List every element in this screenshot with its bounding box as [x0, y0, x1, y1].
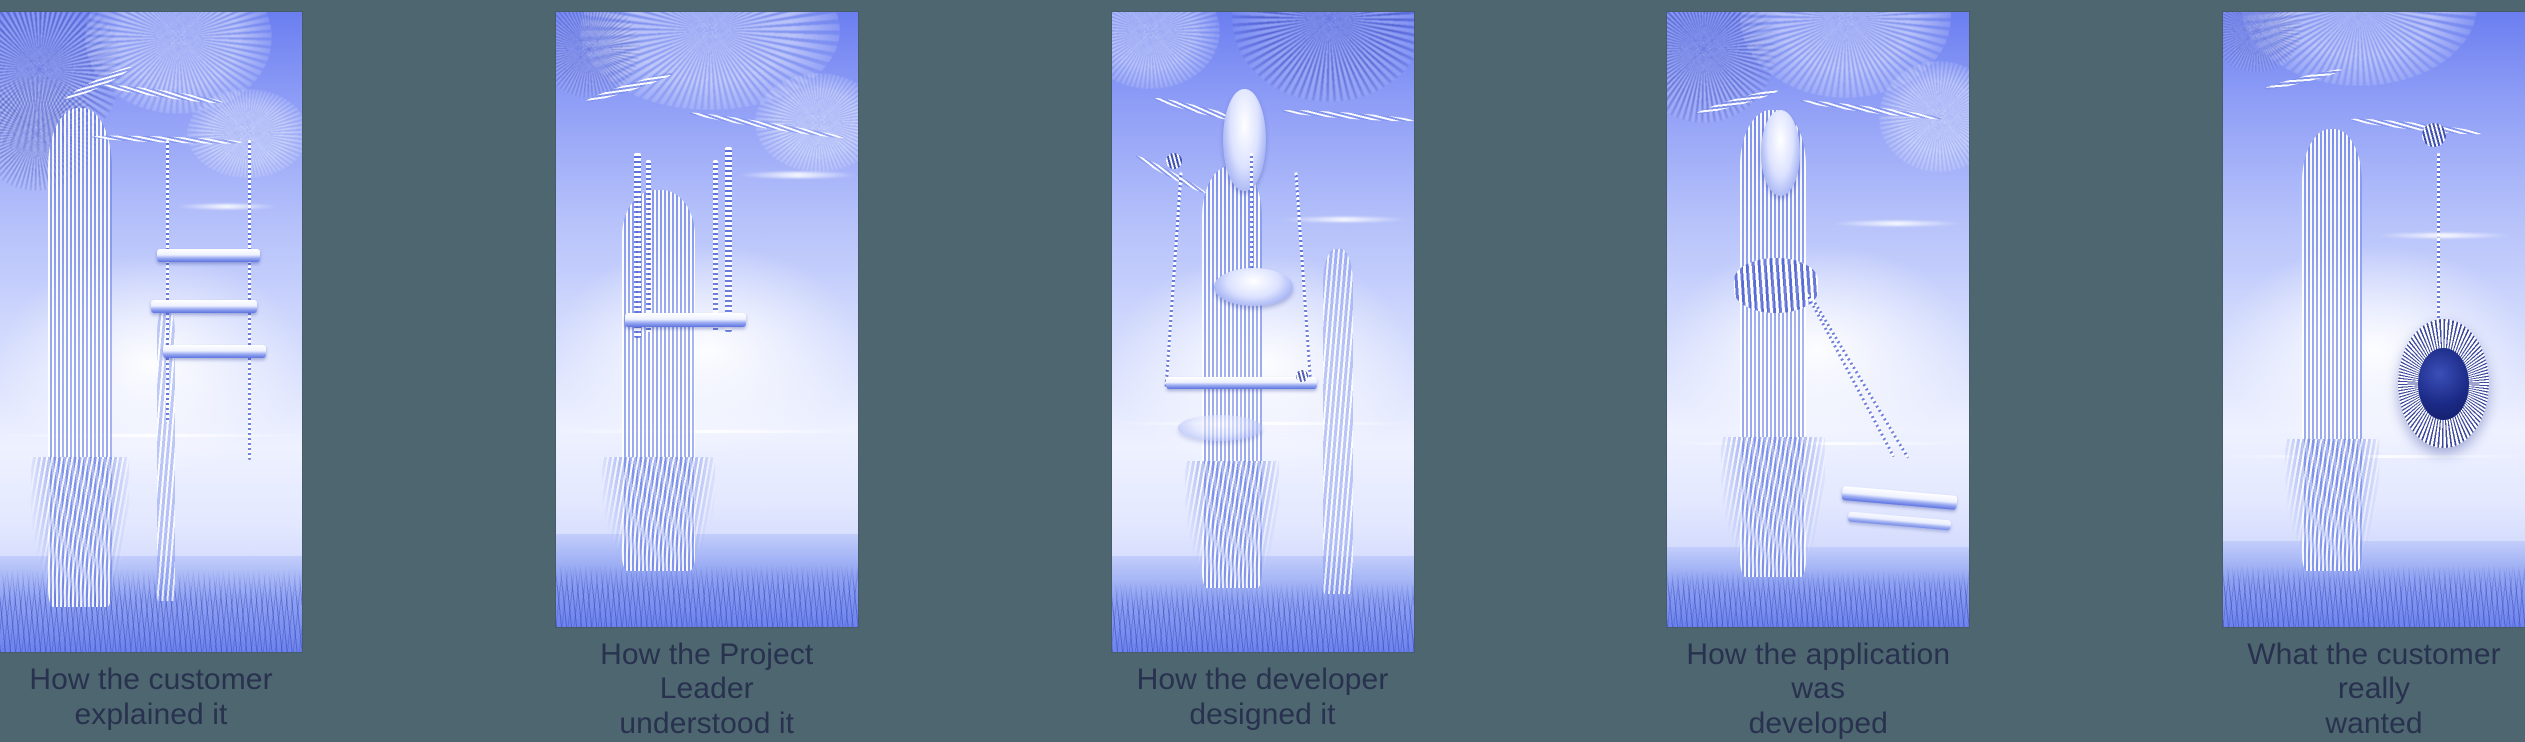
plank-middle — [151, 300, 257, 313]
plank-lower — [1166, 377, 1317, 389]
panel-5-illustration — [2223, 12, 2525, 627]
hole-in-trunk — [1761, 110, 1800, 196]
grass — [2223, 565, 2525, 626]
panel-1: How the customer explained it — [0, 0, 302, 742]
panel-3-caption-line-1: How the developer — [1112, 663, 1414, 698]
cloud-wisp — [175, 204, 278, 209]
haze — [0, 255, 302, 473]
trunk — [2302, 129, 2362, 572]
rope-knot-on-branch — [2422, 123, 2446, 147]
upright-branch-left — [634, 153, 641, 337]
hole-in-trunk — [1223, 89, 1265, 191]
panel-4-illustration — [1667, 12, 1969, 627]
haze — [556, 246, 858, 455]
panel-5-caption-line-2: wanted — [2223, 707, 2525, 742]
rope-single — [1250, 153, 1253, 281]
upright-branch-right — [725, 147, 732, 331]
tire-rope — [2437, 153, 2440, 337]
grass — [1112, 582, 1414, 652]
panel-2: How the Project Leader understood it — [556, 0, 858, 742]
panel-2-illustration — [556, 12, 858, 627]
panel-2-caption-line-1: How the Project Leader — [556, 638, 858, 708]
upright-branch-left-b — [646, 160, 651, 332]
panel-3: How the developer designed it — [1112, 0, 1414, 742]
horizon-line — [556, 430, 858, 433]
panel-1-caption-line-2: explained it — [0, 698, 302, 733]
plank-top — [157, 249, 260, 262]
plank-bottom — [163, 345, 266, 358]
trunk — [622, 190, 694, 571]
tree-swing-comic-strip: How the customer explained it How t — [0, 0, 2525, 742]
panel-1-caption-line-1: How the customer — [0, 663, 302, 698]
plank-seat — [625, 313, 746, 327]
panel-1-caption: How the customer explained it — [0, 652, 302, 733]
shadow-oval — [1178, 415, 1263, 441]
swing-seat-oval — [1214, 268, 1293, 306]
panel-4: How the application was developed — [1667, 0, 1969, 742]
panel-4-caption-line-2: developed — [1667, 707, 1969, 742]
horizon-line — [1112, 422, 1414, 425]
panel-3-illustration — [1112, 12, 1414, 652]
panel-5-caption-line-1: What the customer really — [2223, 638, 2525, 708]
panel-2-caption: How the Project Leader understood it — [556, 627, 858, 742]
panel-4-caption: How the application was developed — [1667, 627, 1969, 742]
background-tree-right — [1323, 249, 1353, 595]
panel-3-caption-line-2: designed it — [1112, 698, 1414, 733]
cloud-wisp — [737, 172, 858, 178]
cloud-wisp — [1830, 221, 1963, 226]
panel-5-caption: What the customer really wanted — [2223, 627, 2525, 742]
cloud-wisp — [1281, 217, 1408, 222]
panel-4-caption-line-1: How the application was — [1667, 638, 1969, 708]
trunk — [48, 108, 111, 607]
grass — [556, 565, 858, 626]
upright-branch-right-b — [713, 160, 718, 332]
panel-3-caption: How the developer designed it — [1112, 652, 1414, 733]
knot-left — [1166, 153, 1182, 169]
grass — [1667, 571, 1969, 626]
rope-left — [166, 140, 169, 422]
panel-1-illustration — [0, 12, 302, 652]
rope-wrap-around-trunk — [1734, 258, 1819, 313]
horizon-line — [0, 434, 302, 437]
panel-5: What the customer really wanted — [2223, 0, 2525, 742]
tire-swing — [2398, 319, 2489, 448]
haze — [1667, 246, 1969, 455]
panel-2-caption-line-2: understood it — [556, 707, 858, 742]
